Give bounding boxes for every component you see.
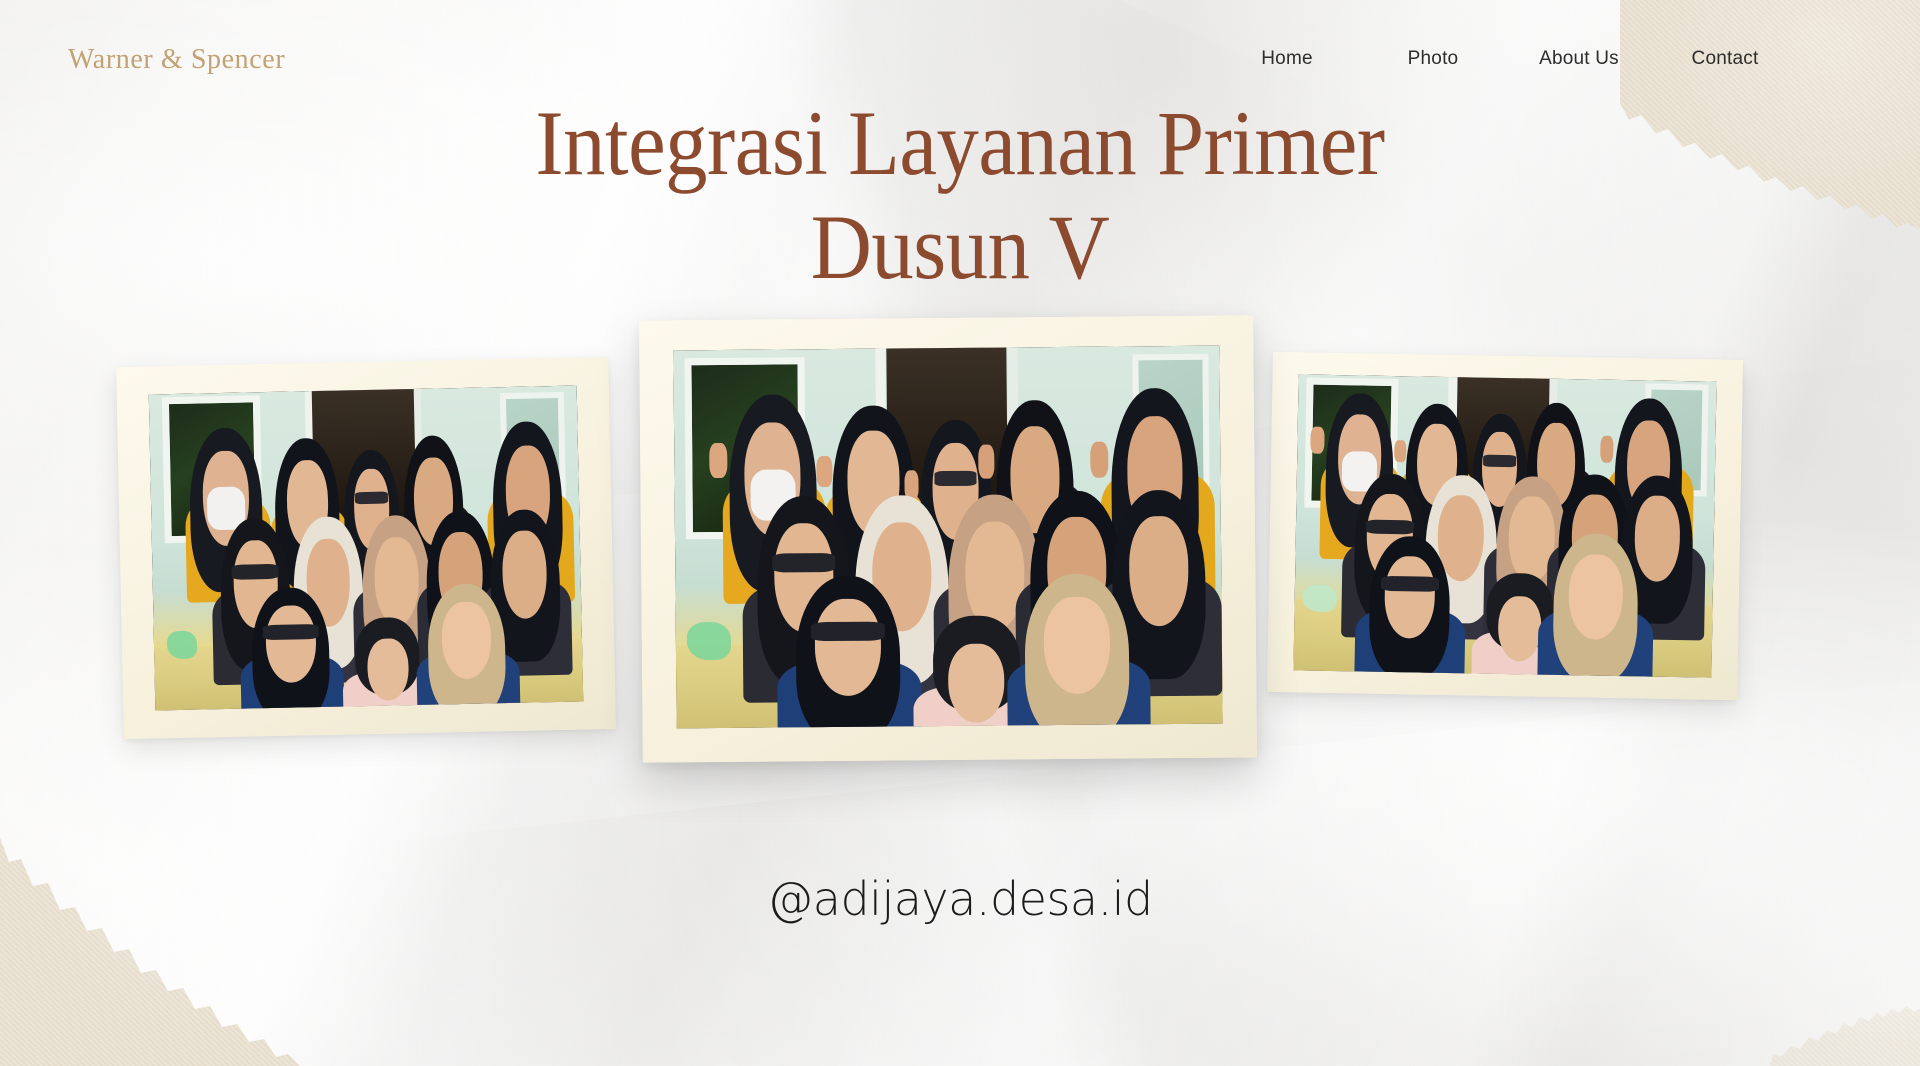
hero-title: Integrasi Layanan Primer Dusun V <box>0 98 1920 292</box>
photo-frame-left[interactable] <box>116 357 616 739</box>
photo-image-right <box>1293 374 1716 677</box>
photo-frame-center[interactable] <box>639 315 1257 762</box>
main-navigation: Home Photo About Us Contact <box>1214 48 1798 70</box>
nav-item-about-us[interactable]: About Us <box>1506 48 1652 70</box>
hero-title-line-2: Dusun V <box>77 202 1843 292</box>
brand-logo[interactable]: Warner & Spencer <box>68 44 285 76</box>
site-header: Warner & Spencer Home Photo About Us Con… <box>0 0 1920 110</box>
photo-image-left <box>149 386 584 711</box>
torn-paper-corner-bottom-right <box>1770 946 1920 1066</box>
social-handle[interactable]: @adijaya.desa.id <box>0 872 1920 926</box>
nav-item-contact[interactable]: Contact <box>1652 48 1798 70</box>
photo-image-center <box>673 346 1222 729</box>
photo-frame-right[interactable] <box>1267 352 1743 700</box>
nav-item-photo[interactable]: Photo <box>1360 48 1506 70</box>
group-photo-scene <box>149 386 584 711</box>
group-photo-scene <box>673 346 1222 729</box>
hero-title-line-1: Integrasi Layanan Primer <box>77 98 1843 188</box>
group-photo-scene <box>1293 374 1716 677</box>
nav-item-home[interactable]: Home <box>1214 48 1360 70</box>
